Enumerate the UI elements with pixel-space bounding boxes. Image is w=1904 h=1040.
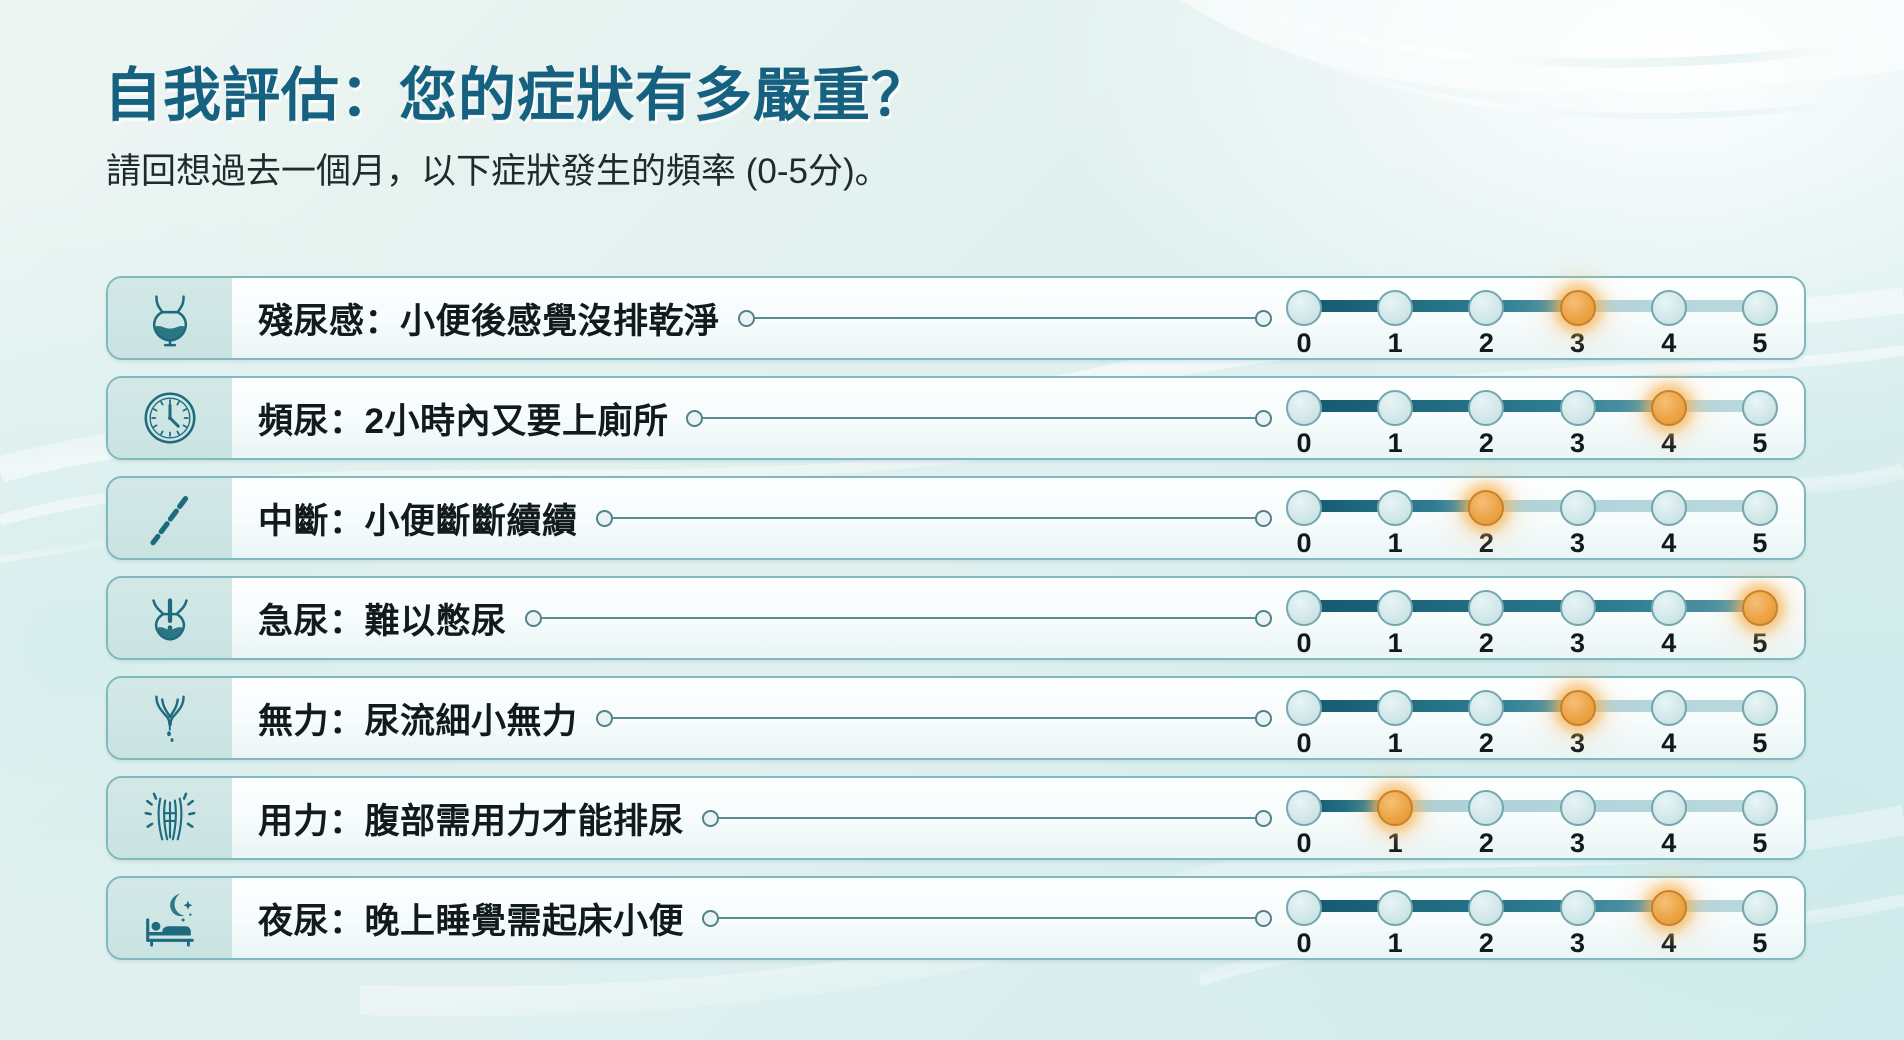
scale-dot-selected[interactable] — [1651, 390, 1687, 426]
connector-end-dot — [1255, 410, 1272, 427]
scale-tick-label: 0 — [1286, 728, 1322, 759]
scale-dot[interactable] — [1468, 590, 1504, 626]
scale-tick-labels: 012345 — [1286, 828, 1778, 858]
scale-dot[interactable] — [1286, 790, 1322, 826]
label-scale-connector — [702, 910, 1272, 927]
scale-dot[interactable] — [1468, 390, 1504, 426]
scale-dot-selected[interactable] — [1468, 490, 1504, 526]
connector-line — [719, 817, 1255, 819]
connector-start-dot — [702, 910, 719, 927]
scale-dot[interactable] — [1377, 690, 1413, 726]
scale-tick-label: 2 — [1468, 328, 1504, 359]
symptom-row[interactable]: 無力：尿流細小無力012345 — [106, 676, 1806, 760]
connector-line — [542, 617, 1255, 619]
symptom-icon-cell — [108, 478, 232, 558]
scale-dot[interactable] — [1377, 590, 1413, 626]
scale-tick-label: 5 — [1742, 428, 1778, 459]
symptom-label: 夜尿：晚上睡覺需起床小便 — [232, 893, 684, 944]
scale-tick-label: 0 — [1286, 828, 1322, 859]
label-scale-connector — [596, 710, 1272, 727]
bladder-icon — [139, 287, 201, 349]
severity-scale[interactable]: 012345 — [1286, 376, 1778, 460]
symptom-icon-cell — [108, 778, 232, 858]
page-subtitle: 請回想過去一個月，以下症狀發生的頻率 (0-5分)。 — [106, 143, 890, 194]
scale-tick-label: 4 — [1651, 728, 1687, 759]
scale-dots — [1286, 488, 1778, 528]
symptom-row[interactable]: 夜尿：晚上睡覺需起床小便012345 — [106, 876, 1806, 960]
scale-tick-label: 2 — [1468, 628, 1504, 659]
severity-scale[interactable]: 012345 — [1286, 776, 1778, 860]
scale-dots — [1286, 588, 1778, 628]
scale-dot[interactable] — [1742, 690, 1778, 726]
scale-dot[interactable] — [1742, 490, 1778, 526]
symptom-label: 用力：腹部需用力才能排尿 — [232, 793, 684, 844]
label-scale-connector — [525, 610, 1272, 627]
scale-dot[interactable] — [1560, 890, 1596, 926]
connector-line — [703, 417, 1255, 419]
scale-dot[interactable] — [1377, 890, 1413, 926]
scale-tick-label: 3 — [1560, 828, 1596, 859]
symptom-label: 中斷：小便斷斷續續 — [232, 493, 578, 544]
scale-dot[interactable] — [1286, 290, 1322, 326]
scale-dot[interactable] — [1742, 890, 1778, 926]
label-scale-connector — [738, 310, 1272, 327]
scale-tick-label: 4 — [1651, 628, 1687, 659]
connector-start-dot — [596, 710, 613, 727]
symptom-row[interactable]: 頻尿：2小時內又要上廁所012345 — [106, 376, 1806, 460]
scale-tick-labels: 012345 — [1286, 428, 1778, 458]
connector-end-dot — [1255, 910, 1272, 927]
scale-tick-label: 5 — [1742, 728, 1778, 759]
scale-tick-labels: 012345 — [1286, 928, 1778, 958]
symptom-label: 殘尿感：小便後感覺沒排乾淨 — [232, 293, 720, 344]
straining-abdomen-icon — [139, 787, 201, 849]
severity-scale[interactable]: 012345 — [1286, 676, 1778, 760]
scale-dot[interactable] — [1468, 290, 1504, 326]
connector-end-dot — [1255, 810, 1272, 827]
scale-tick-label: 1 — [1377, 528, 1413, 559]
severity-scale[interactable]: 012345 — [1286, 576, 1778, 660]
symptom-label: 無力：尿流細小無力 — [232, 693, 578, 744]
connector-end-dot — [1255, 610, 1272, 627]
scale-tick-label: 4 — [1651, 928, 1687, 959]
scale-dot[interactable] — [1286, 890, 1322, 926]
scale-dots — [1286, 688, 1778, 728]
connector-line — [613, 517, 1255, 519]
connector-start-dot — [686, 410, 703, 427]
scale-tick-label: 4 — [1651, 828, 1687, 859]
scale-dot-selected[interactable] — [1651, 890, 1687, 926]
scale-dot-selected[interactable] — [1560, 690, 1596, 726]
scale-tick-label: 1 — [1377, 328, 1413, 359]
symptom-icon-cell — [108, 878, 232, 958]
scale-tick-label: 0 — [1286, 628, 1322, 659]
label-scale-connector — [686, 410, 1272, 427]
scale-dots — [1286, 388, 1778, 428]
scale-tick-label: 3 — [1560, 428, 1596, 459]
night-bed-moon-icon — [139, 887, 201, 949]
label-scale-connector — [596, 510, 1272, 527]
scale-tick-label: 5 — [1742, 828, 1778, 859]
scale-dot[interactable] — [1742, 290, 1778, 326]
page-title: 自我評估：您的症狀有多嚴重？ — [104, 48, 930, 132]
scale-dot[interactable] — [1468, 890, 1504, 926]
scale-tick-labels: 012345 — [1286, 528, 1778, 558]
symptom-label: 急尿：難以憋尿 — [232, 593, 507, 644]
scale-dots — [1286, 888, 1778, 928]
scale-dot-selected[interactable] — [1377, 790, 1413, 826]
scale-tick-label: 0 — [1286, 928, 1322, 959]
scale-tick-label: 1 — [1377, 728, 1413, 759]
symptom-row[interactable]: 中斷：小便斷斷續續012345 — [106, 476, 1806, 560]
scale-tick-label: 3 — [1560, 628, 1596, 659]
scale-dot-selected[interactable] — [1742, 590, 1778, 626]
scale-dot[interactable] — [1377, 290, 1413, 326]
severity-scale[interactable]: 012345 — [1286, 476, 1778, 560]
scale-tick-label: 2 — [1468, 528, 1504, 559]
scale-dot[interactable] — [1560, 790, 1596, 826]
scale-tick-label: 2 — [1468, 728, 1504, 759]
scale-tick-labels: 012345 — [1286, 628, 1778, 658]
scale-tick-label: 1 — [1377, 828, 1413, 859]
connector-line — [613, 717, 1255, 719]
scale-tick-label: 4 — [1651, 528, 1687, 559]
severity-scale[interactable]: 012345 — [1286, 876, 1778, 960]
scale-dot[interactable] — [1651, 690, 1687, 726]
urgent-bladder-icon — [139, 587, 201, 649]
scale-tick-label: 3 — [1560, 328, 1596, 359]
scale-dot[interactable] — [1651, 590, 1687, 626]
scale-tick-label: 4 — [1651, 428, 1687, 459]
scale-dot[interactable] — [1742, 390, 1778, 426]
symptom-label: 頻尿：2小時內又要上廁所 — [232, 393, 668, 444]
scale-tick-label: 2 — [1468, 928, 1504, 959]
symptom-row[interactable]: 殘尿感：小便後感覺沒排乾淨012345 — [106, 276, 1806, 360]
scale-dot[interactable] — [1560, 390, 1596, 426]
connector-line — [755, 317, 1255, 319]
scale-tick-label: 3 — [1560, 528, 1596, 559]
scale-tick-label: 5 — [1742, 528, 1778, 559]
symptom-list: 殘尿感：小便後感覺沒排乾淨012345 頻尿：2小時內又要上廁所012345 中… — [106, 276, 1806, 976]
scale-tick-label: 2 — [1468, 428, 1504, 459]
scale-tick-label: 3 — [1560, 728, 1596, 759]
scale-dot[interactable] — [1377, 390, 1413, 426]
scale-dot[interactable] — [1286, 390, 1322, 426]
symptom-row[interactable]: 用力：腹部需用力才能排尿012345 — [106, 776, 1806, 860]
scale-dot[interactable] — [1560, 590, 1596, 626]
connector-end-dot — [1255, 510, 1272, 527]
connector-start-dot — [702, 810, 719, 827]
symptom-row[interactable]: 急尿：難以憋尿012345 — [106, 576, 1806, 660]
scale-tick-label: 5 — [1742, 328, 1778, 359]
symptom-icon-cell — [108, 578, 232, 658]
scale-dot[interactable] — [1377, 490, 1413, 526]
symptom-icon-cell — [108, 678, 232, 758]
symptom-icon-cell — [108, 378, 232, 458]
label-scale-connector — [702, 810, 1272, 827]
scale-tick-label: 0 — [1286, 528, 1322, 559]
scale-tick-label: 3 — [1560, 928, 1596, 959]
scale-tick-label: 0 — [1286, 428, 1322, 459]
scale-dots — [1286, 788, 1778, 828]
scale-dot[interactable] — [1286, 690, 1322, 726]
scale-tick-label: 5 — [1742, 628, 1778, 659]
scale-tick-label: 0 — [1286, 328, 1322, 359]
scale-tick-label: 5 — [1742, 928, 1778, 959]
infographic-content: 自我評估：您的症狀有多嚴重？ 請回想過去一個月，以下症狀發生的頻率 (0-5分)… — [0, 0, 1904, 1040]
scale-dot[interactable] — [1286, 490, 1322, 526]
scale-dot-selected[interactable] — [1560, 290, 1596, 326]
scale-dots — [1286, 288, 1778, 328]
scale-dot[interactable] — [1286, 590, 1322, 626]
scale-tick-labels: 012345 — [1286, 728, 1778, 758]
scale-dot[interactable] — [1468, 690, 1504, 726]
scale-tick-label: 1 — [1377, 428, 1413, 459]
connector-end-dot — [1255, 710, 1272, 727]
scale-dot[interactable] — [1560, 490, 1596, 526]
clock-icon — [139, 387, 201, 449]
severity-scale[interactable]: 012345 — [1286, 276, 1778, 360]
scale-dot[interactable] — [1651, 490, 1687, 526]
connector-start-dot — [596, 510, 613, 527]
connector-line — [719, 917, 1255, 919]
scale-dot[interactable] — [1742, 790, 1778, 826]
connector-end-dot — [1255, 310, 1272, 327]
connector-start-dot — [525, 610, 542, 627]
scale-dot[interactable] — [1651, 290, 1687, 326]
connector-start-dot — [738, 310, 755, 327]
weak-stream-icon — [139, 687, 201, 749]
scale-tick-label: 2 — [1468, 828, 1504, 859]
symptom-icon-cell — [108, 278, 232, 358]
scale-tick-label: 4 — [1651, 328, 1687, 359]
dashed-stream-icon — [139, 487, 201, 549]
scale-tick-label: 1 — [1377, 928, 1413, 959]
scale-tick-label: 1 — [1377, 628, 1413, 659]
scale-dot[interactable] — [1651, 790, 1687, 826]
scale-tick-labels: 012345 — [1286, 328, 1778, 358]
scale-dot[interactable] — [1468, 790, 1504, 826]
